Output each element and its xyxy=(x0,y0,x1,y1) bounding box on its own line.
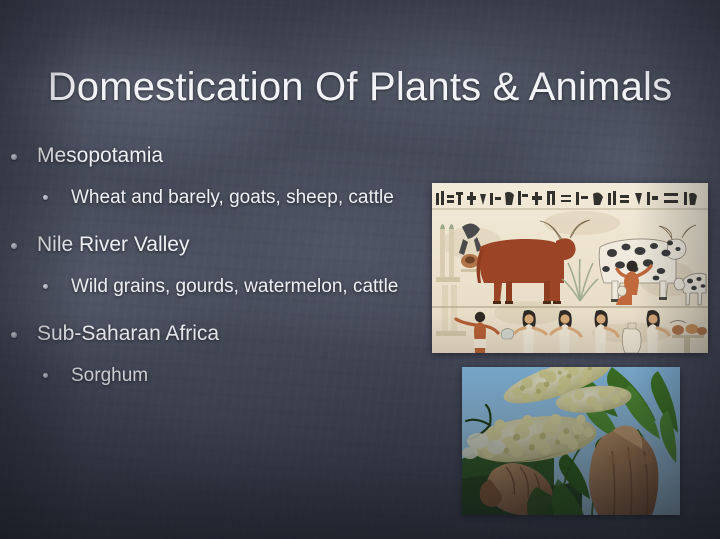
list-item: Nile River Valley xyxy=(0,232,420,258)
list-item: Wheat and barely, goats, sheep, cattle xyxy=(0,185,420,210)
egyptian-tomb-painting-artwork xyxy=(432,183,708,353)
list-item-label: Mesopotamia xyxy=(37,143,420,169)
dot-bullet-icon xyxy=(43,195,48,200)
sorghum-harvest-image xyxy=(462,367,680,515)
slide-title: Domestication Of Plants & Animals xyxy=(0,65,720,110)
list-item: Mesopotamia xyxy=(0,143,420,169)
dot-bullet-icon xyxy=(43,284,48,289)
egyptian-tomb-painting-image xyxy=(432,183,708,353)
list-item: Sorghum xyxy=(0,363,420,388)
list-item-label: Nile River Valley xyxy=(37,232,420,258)
list-item-label: Sorghum xyxy=(71,363,420,388)
dot-bullet-icon xyxy=(11,332,17,338)
bullet-list: Mesopotamia Wheat and barely, goats, she… xyxy=(0,143,420,410)
list-item: Sub-Saharan Africa xyxy=(0,321,420,347)
dot-bullet-icon xyxy=(11,243,17,249)
slide-canvas: Domestication Of Plants & Animals Mesopo… xyxy=(0,0,720,539)
list-item-label: Wheat and barely, goats, sheep, cattle xyxy=(71,185,420,210)
sorghum-harvest-artwork xyxy=(462,367,680,515)
list-item: Wild grains, gourds, watermelon, cattle xyxy=(0,274,420,299)
list-item-label: Sub-Saharan Africa xyxy=(37,321,420,347)
list-item-label: Wild grains, gourds, watermelon, cattle xyxy=(71,274,420,299)
dot-bullet-icon xyxy=(43,373,48,378)
dot-bullet-icon xyxy=(11,154,17,160)
